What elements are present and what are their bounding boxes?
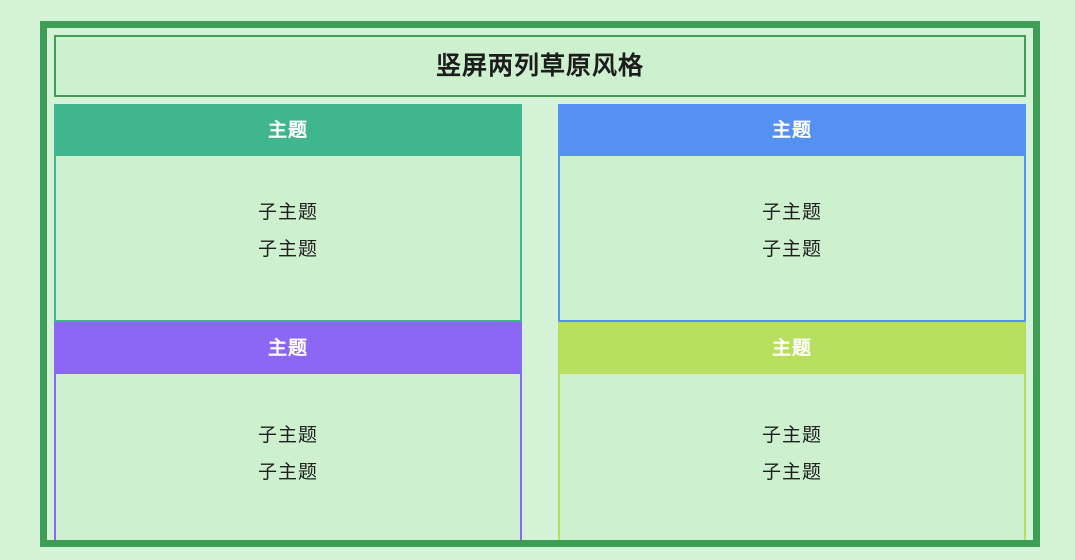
subtopic-item: 子主题 xyxy=(762,240,822,259)
subtopic-item: 子主题 xyxy=(762,463,822,482)
topic-card-bottom-right[interactable]: 主题 子主题 子主题 xyxy=(558,322,1026,540)
board-title-bar[interactable]: 竖屏两列草原风格 xyxy=(54,35,1026,97)
topic-card-header[interactable]: 主题 xyxy=(54,104,522,156)
subtopic-item: 子主题 xyxy=(762,426,822,445)
topic-card-body[interactable]: 子主题 子主题 xyxy=(54,374,522,540)
subtopic-item: 子主题 xyxy=(258,463,318,482)
topic-card-header[interactable]: 主题 xyxy=(54,322,522,374)
topic-card-top-left[interactable]: 主题 子主题 子主题 xyxy=(54,104,522,322)
topic-card-title: 主题 xyxy=(268,121,308,140)
topic-card-title: 主题 xyxy=(772,121,812,140)
topic-card-body[interactable]: 子主题 子主题 xyxy=(54,156,522,322)
topic-card-top-right[interactable]: 主题 子主题 子主题 xyxy=(558,104,1026,322)
topic-card-bottom-left[interactable]: 主题 子主题 子主题 xyxy=(54,322,522,540)
subtopic-item: 子主题 xyxy=(258,203,318,222)
topic-card-body[interactable]: 子主题 子主题 xyxy=(558,374,1026,540)
topic-card-title: 主题 xyxy=(772,339,812,358)
topic-card-header[interactable]: 主题 xyxy=(558,322,1026,374)
topic-grid: 主题 子主题 子主题 主题 子主题 子主题 主题 子主题 子主题 xyxy=(47,104,1033,540)
topic-card-title: 主题 xyxy=(268,339,308,358)
board-title: 竖屏两列草原风格 xyxy=(436,54,644,79)
topic-card-header[interactable]: 主题 xyxy=(558,104,1026,156)
subtopic-item: 子主题 xyxy=(762,203,822,222)
topic-card-body[interactable]: 子主题 子主题 xyxy=(558,156,1026,322)
subtopic-item: 子主题 xyxy=(258,426,318,445)
mindmap-board: 竖屏两列草原风格 主题 子主题 子主题 主题 子主题 子主题 xyxy=(40,21,1040,547)
subtopic-item: 子主题 xyxy=(258,240,318,259)
